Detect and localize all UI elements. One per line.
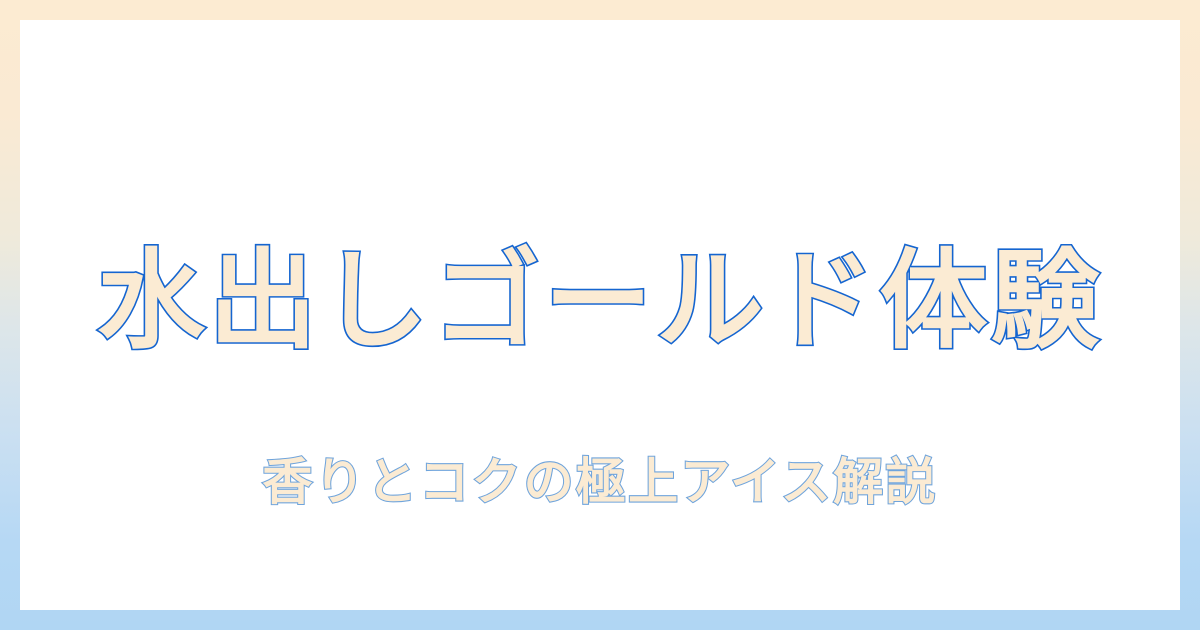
page-subtitle: 香りとコクの極上アイス解説: [20, 452, 1180, 512]
banner-background: 水出しゴールド体験 香りとコクの極上アイス解説: [0, 0, 1200, 630]
page-title: 水出しゴールド体験: [20, 242, 1180, 363]
content-card: 水出しゴールド体験 香りとコクの極上アイス解説: [20, 20, 1180, 610]
